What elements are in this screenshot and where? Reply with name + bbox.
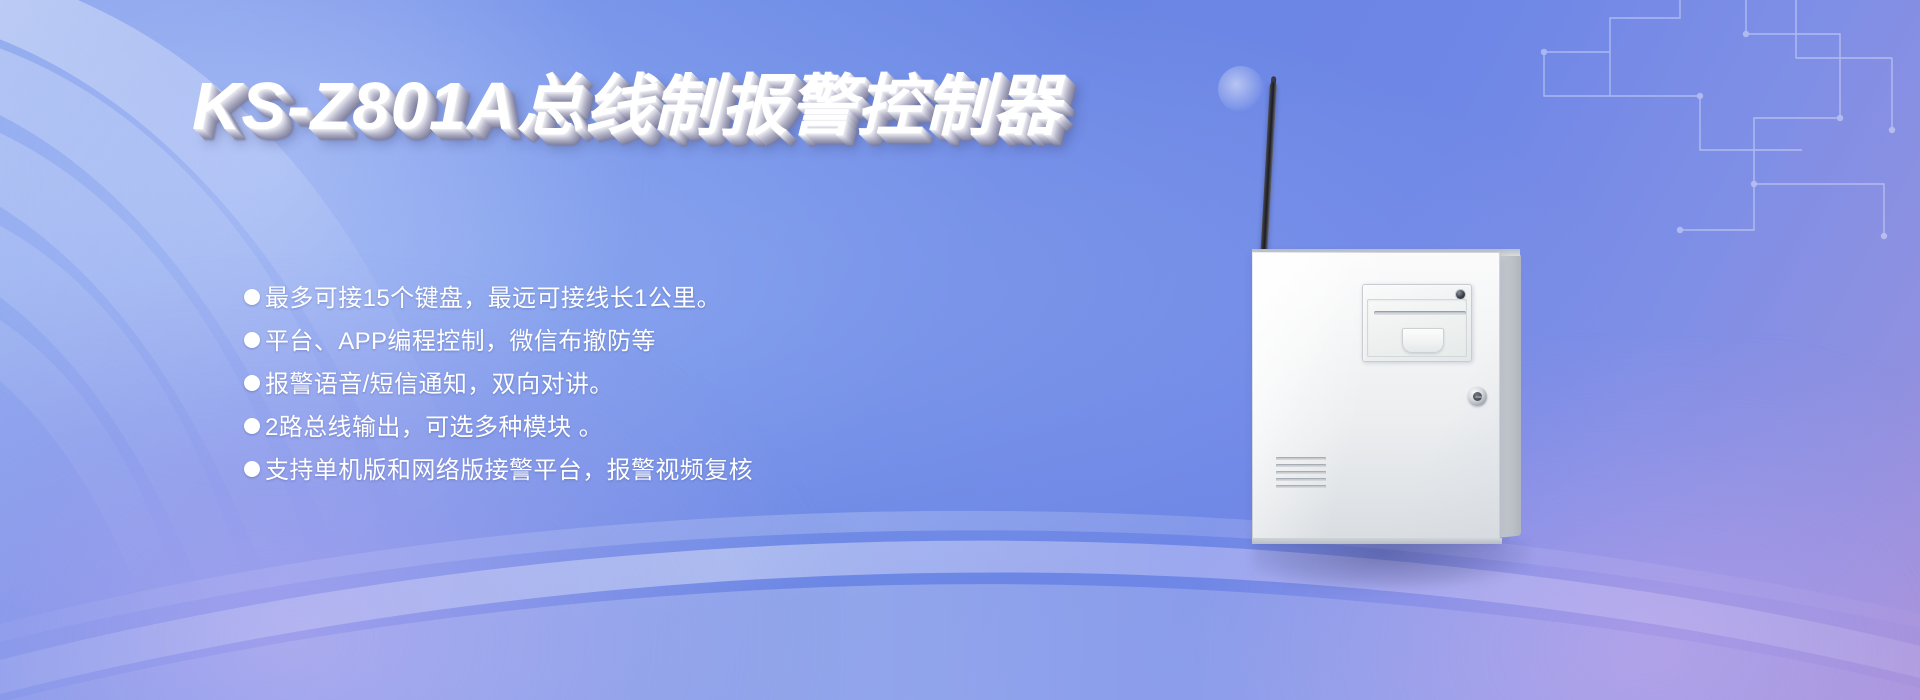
vent-slat xyxy=(1276,478,1326,481)
door-lock-icon xyxy=(1468,387,1487,406)
lock-keyway xyxy=(1475,396,1482,398)
feature-text: 支持单机版和网络版接警平台，报警视频复核 xyxy=(265,449,753,492)
keypad-display-slot xyxy=(1374,311,1466,315)
product-banner: KS-Z801A总线制报警控制器 最多可接15个键盘，最远可接线长1公里。 平台… xyxy=(0,0,1920,700)
vent-slat xyxy=(1276,457,1326,460)
vent-slat xyxy=(1276,471,1326,474)
lens-flare xyxy=(1218,66,1264,112)
feature-text: 最多可接15个键盘，最远可接线长1公里。 xyxy=(265,277,721,320)
bullet-dot-icon xyxy=(244,418,260,434)
list-item: 平台、APP编程控制，微信布撤防等 xyxy=(244,320,1104,363)
keypad-module xyxy=(1362,284,1472,362)
keypad-module-inner xyxy=(1367,299,1467,357)
vent-slat xyxy=(1276,485,1326,488)
list-item: 2路总线输出，可选多种模块 。 xyxy=(244,406,1104,449)
bullet-dot-icon xyxy=(244,332,260,348)
alarm-control-cabinet xyxy=(1252,250,1520,542)
keypad-pull-tab xyxy=(1402,328,1444,353)
cabinet-front-door xyxy=(1252,252,1500,540)
ventilation-slots xyxy=(1276,457,1326,489)
list-item: 报警语音/短信通知，双向对讲。 xyxy=(244,363,1104,406)
cabinet-side-panel xyxy=(1497,253,1521,538)
bullet-dot-icon xyxy=(244,289,260,305)
feature-text: 2路总线输出，可选多种模块 。 xyxy=(265,406,603,449)
bullet-dot-icon xyxy=(244,375,260,391)
list-item: 支持单机版和网络版接警平台，报警视频复核 xyxy=(244,449,1104,492)
feature-text: 平台、APP编程控制，微信布撤防等 xyxy=(265,320,656,363)
cabinet-bottom-edge xyxy=(1252,538,1502,544)
bullet-dot-icon xyxy=(244,461,260,477)
feature-list: 最多可接15个键盘，最远可接线长1公里。 平台、APP编程控制，微信布撤防等 报… xyxy=(244,277,1104,492)
vent-slat xyxy=(1276,464,1326,467)
feature-text: 报警语音/短信通知，双向对讲。 xyxy=(265,363,614,406)
list-item: 最多可接15个键盘，最远可接线长1公里。 xyxy=(244,277,1104,320)
product-image xyxy=(1000,60,1640,620)
status-led-icon xyxy=(1456,290,1465,299)
page-title: KS-Z801A总线制报警控制器 xyxy=(192,73,1060,140)
